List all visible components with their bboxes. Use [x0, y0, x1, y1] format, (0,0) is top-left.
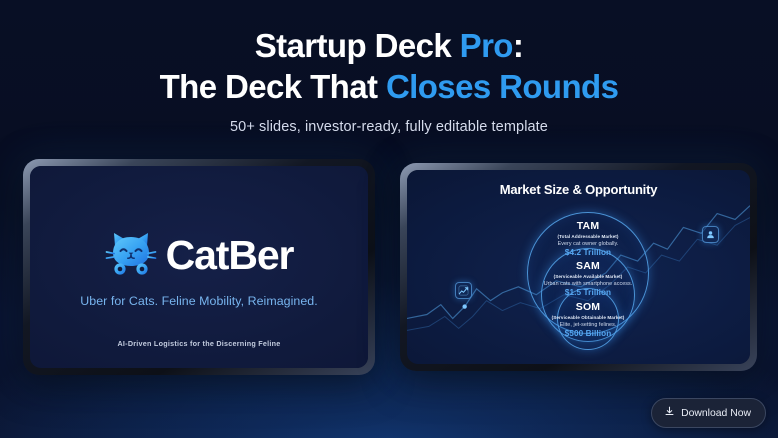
sam-expansion: (Serviceable Available Market)	[503, 274, 673, 279]
headline-line2-plain: The Deck That	[160, 68, 386, 105]
headline-line1-tail: :	[513, 27, 523, 64]
slide-title-cover: CatBer Uber for Cats. Feline Mobility, R…	[30, 166, 368, 368]
tablet-screen-left: CatBer Uber for Cats. Feline Mobility, R…	[30, 166, 368, 368]
chart-growth-icon	[455, 282, 472, 299]
landing-page: Startup Deck Pro: The Deck That Closes R…	[0, 0, 778, 438]
download-icon	[664, 406, 675, 420]
page-title: Startup Deck Pro: The Deck That Closes R…	[0, 26, 778, 108]
tam-value: $4.2 Trillion	[503, 248, 673, 257]
brand-lockup: CatBer	[105, 230, 294, 281]
som-expansion: (Serviceable Obtainable Market)	[503, 315, 673, 320]
brand-wordmark: CatBer	[166, 235, 294, 276]
sam-key: SAM	[503, 260, 673, 272]
slide-market-size: Market Size & Opportunity TAM (Total Add…	[407, 170, 750, 364]
cat-car-logo-icon	[105, 230, 157, 281]
segment-tam: TAM (Total Addressable Market) Every cat…	[503, 220, 673, 257]
headline-line-2: The Deck That Closes Rounds	[0, 67, 778, 108]
som-key: SOM	[503, 301, 673, 313]
segment-som: SOM (Serviceable Obtainable Market) Elit…	[503, 301, 673, 338]
tam-expansion: (Total Addressable Market)	[503, 234, 673, 239]
headline-line1-accent: Pro	[460, 27, 513, 64]
tablet-mockup-left[interactable]: CatBer Uber for Cats. Feline Mobility, R…	[23, 159, 375, 375]
headline-line1-plain: Startup Deck	[255, 27, 460, 64]
segment-sam: SAM (Serviceable Available Market) Urban…	[503, 260, 673, 297]
brand-tagline: Uber for Cats. Feline Mobility, Reimagin…	[80, 294, 317, 308]
slide-footer-note: AI-Driven Logistics for the Discerning F…	[30, 339, 368, 348]
sam-value: $1.5 Trillion	[503, 288, 673, 297]
headline-line-1: Startup Deck Pro:	[0, 26, 778, 67]
user-profile-icon	[702, 226, 719, 243]
som-description: Elite, jet-setting felines.	[503, 322, 673, 328]
hero-subheadline: 50+ slides, investor-ready, fully editab…	[0, 119, 778, 135]
headline-line2-accent: Closes Rounds	[386, 68, 618, 105]
hero-header: Startup Deck Pro: The Deck That Closes R…	[0, 26, 778, 135]
download-now-button[interactable]: Download Now	[651, 398, 766, 428]
tablet-screen-right: Market Size & Opportunity TAM (Total Add…	[407, 170, 750, 364]
som-value: $500 Billion	[503, 329, 673, 338]
tam-sam-som-diagram: TAM (Total Addressable Market) Every cat…	[407, 170, 750, 364]
sam-description: Urban cats with smartphone access.	[503, 281, 673, 287]
tam-description: Every cat owner globally.	[503, 241, 673, 247]
tablet-mockup-right[interactable]: Market Size & Opportunity TAM (Total Add…	[400, 163, 757, 371]
download-button-label: Download Now	[681, 408, 751, 419]
tam-key: TAM	[503, 220, 673, 232]
